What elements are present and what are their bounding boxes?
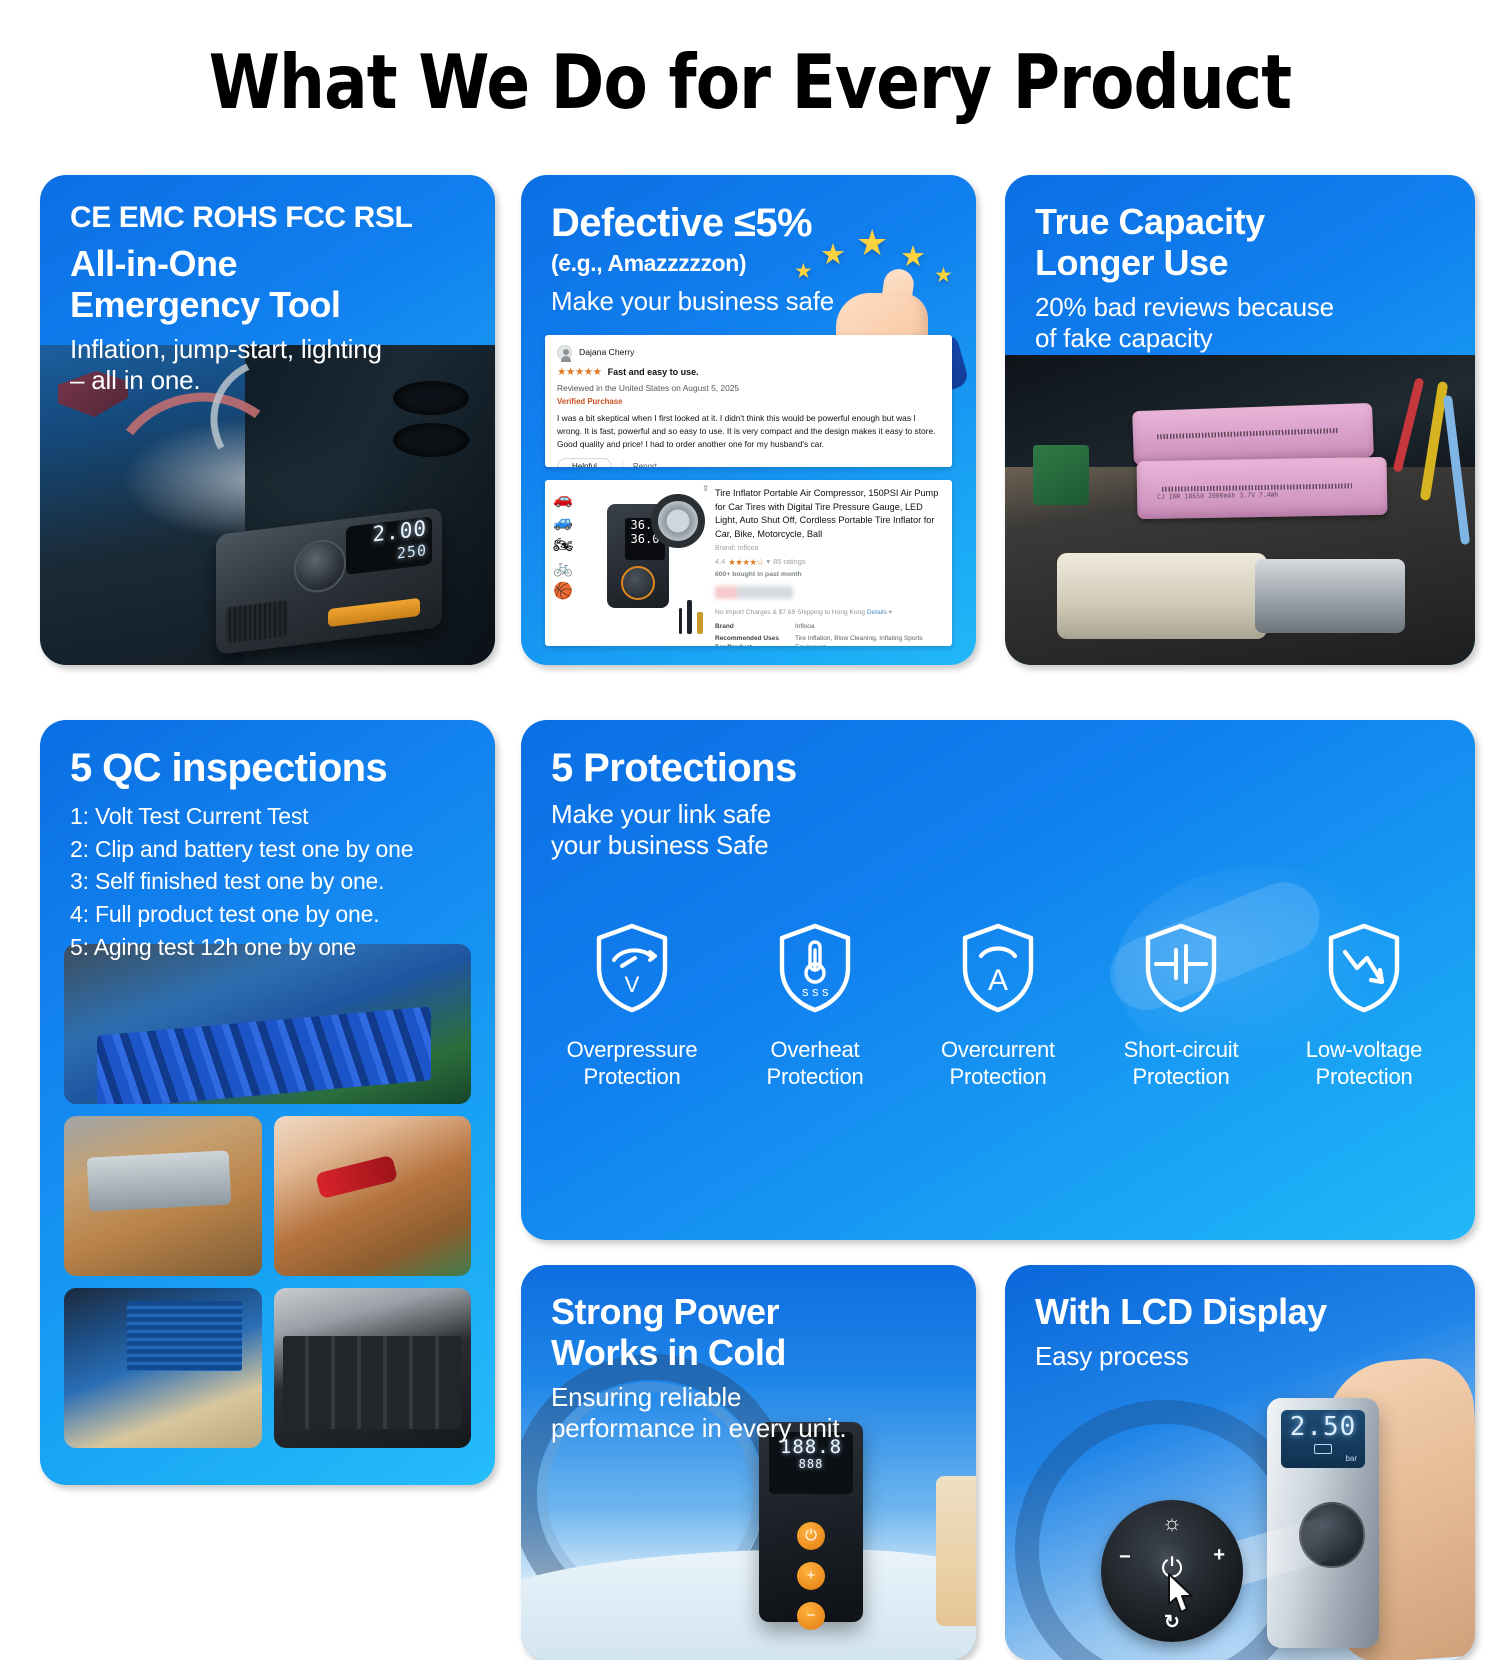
svg-text:s: s: [802, 984, 809, 999]
motorcycle-icon: 🏍: [553, 538, 573, 554]
table-row: Recommended Uses For Product Tire Inflat…: [715, 635, 944, 646]
protection-label-line2: Protection: [547, 1064, 717, 1091]
reviewer-name: Dajana Cherry: [579, 346, 634, 358]
card6-heading-line1: Strong Power: [551, 1291, 946, 1332]
share-icon[interactable]: ⇪: [702, 484, 709, 493]
accessories-group: [679, 600, 703, 634]
cursor-pointer-icon: [1163, 1570, 1203, 1618]
card3-sub-line2: of fake capacity: [1035, 323, 1445, 354]
card-qc-inspections: 5 QC inspections 1: Volt Test Current Te…: [40, 720, 495, 1485]
protection-item-low-voltage: Low-voltage Protection: [1279, 920, 1449, 1091]
report-link[interactable]: Report: [622, 461, 657, 467]
category-icon-list: 🚗 🚙 🏍 🚲 🏀: [553, 492, 573, 600]
card-true-capacity: CJ INR 18650 2000mAh 3.7V 7.4Wh True Cap…: [1005, 175, 1475, 665]
pcb-board: [1033, 445, 1089, 505]
card1-heading-line2: Emergency Tool: [70, 284, 465, 325]
pump-housing: [1057, 553, 1267, 639]
svg-text:A: A: [988, 964, 1008, 997]
list-item: 1: Volt Test Current Test: [70, 800, 465, 833]
low-voltage-shield-icon: [1321, 920, 1407, 1016]
card-defective-rate: Defective ≤5% (e.g., Amazzzzzon) Make yo…: [521, 175, 976, 665]
listing-image: 🚗 🚙 🏍 🚲 🏀 36.0 36.0: [545, 480, 713, 646]
attr-key: Recommended Uses For Product: [715, 635, 789, 646]
basketball-icon: 🏀: [553, 584, 573, 600]
protection-label-line2: Protection: [1096, 1064, 1266, 1091]
card-five-protections: 5 Protections Make your link safe your b…: [521, 720, 1475, 1240]
card2-heading: Defective ≤5%: [551, 201, 946, 245]
reviewer-avatar: [557, 345, 572, 360]
qc-photo-assembly-jig: [64, 1116, 262, 1276]
device-lcd-screen: 2.00 250: [346, 516, 432, 575]
protection-label-line2: Protection: [913, 1064, 1083, 1091]
table-row: Brand Inflooa: [715, 623, 944, 632]
card3-sub-line1: 20% bad reviews because: [1035, 292, 1445, 323]
review-meta: Reviewed in the United States on August …: [557, 382, 940, 394]
battery-internals-photo: CJ INR 18650 2000mAh 3.7V 7.4Wh: [1005, 355, 1475, 665]
card7-sub: Easy process: [1035, 1341, 1445, 1372]
amazon-review-screenshot: Dajana Cherry ★★★★★ Fast and easy to use…: [545, 335, 952, 467]
minus-button[interactable]: −: [1119, 1546, 1131, 1569]
rating-stars: ★★★★☆: [728, 556, 763, 568]
listing-brand: Brand: Inflooa: [715, 544, 944, 554]
card1-sub-line1: Inflation, jump-start, lighting: [70, 334, 465, 365]
qc-photo-clip-battery-test: [274, 1116, 472, 1276]
qc-photo-grid: [64, 944, 471, 1459]
protection-label-line1: Short-circuit: [1096, 1037, 1266, 1064]
cold-display-bottom: 888: [769, 1457, 853, 1471]
card5-sub-line2: your business Safe: [551, 830, 1445, 861]
device-knob: [294, 537, 346, 595]
card6-sub-line2: performance in every unit.: [551, 1413, 946, 1444]
certification-kicker: CE EMC ROHS FCC RSL: [70, 201, 465, 235]
qc-item-list: 1: Volt Test Current Test 2: Clip and ba…: [70, 800, 465, 963]
card2-sub: Make your business safe: [551, 286, 946, 317]
card4-heading: 5 QC inspections: [70, 746, 465, 790]
attr-value: Inflooa: [795, 623, 815, 632]
feature-card-grid: 2.00 250 CE EMC ROHS FCC RSL All-in-One …: [40, 175, 1475, 1485]
amazon-listing-screenshot: 🚗 🚙 🏍 🚲 🏀 36.0 36.0: [545, 480, 952, 646]
card-all-in-one-emergency-tool: 2.00 250 CE EMC ROHS FCC RSL All-in-One …: [40, 175, 495, 665]
page-title: What We Do for Every Product: [105, 0, 1395, 126]
qc-photo-volt-test-bench: [64, 944, 471, 1104]
rating-count[interactable]: 85 ratings: [773, 557, 805, 568]
card6-sub-line1: Ensuring reliable: [551, 1382, 946, 1413]
lcd-value: 2.50: [1281, 1410, 1365, 1444]
shipping-details-link[interactable]: Details: [867, 609, 887, 616]
snow-ground: [521, 1549, 976, 1660]
overcurrent-shield-icon: A: [955, 920, 1041, 1016]
attr-key: Brand: [715, 623, 789, 632]
svg-text:s: s: [812, 984, 819, 999]
card5-sub-line1: Make your link safe: [551, 799, 1445, 830]
helpful-button[interactable]: Helpful: [557, 458, 612, 467]
svg-text:V: V: [625, 972, 640, 997]
card7-heading: With LCD Display: [1035, 1291, 1445, 1332]
battery-icon: [1314, 1444, 1332, 1454]
protection-label-line1: Overcurrent: [913, 1037, 1083, 1064]
lcd-screen: 2.50 bar: [1281, 1410, 1365, 1468]
lcd-unit: bar: [1345, 1454, 1357, 1463]
chevron-down-icon[interactable]: ▾: [766, 557, 770, 568]
attr-value: Tire Inflation, Blow Cleaning, Inflating…: [795, 635, 944, 646]
cold-plus-button[interactable]: +: [797, 1562, 825, 1590]
protection-item-overcurrent: A Overcurrent Protection: [913, 920, 1083, 1091]
verified-purchase-badge: Verified Purchase: [557, 396, 940, 407]
cold-weather-device: 188.8 888 ⏻ + −: [759, 1422, 863, 1622]
card1-heading-line1: All-in-One: [70, 243, 465, 284]
overheat-shield-icon: s s s: [772, 920, 858, 1016]
device-air-outlet: [226, 600, 288, 644]
listing-title[interactable]: Tire Inflator Portable Air Compressor, 1…: [715, 487, 944, 541]
review-title: Fast and easy to use.: [608, 366, 699, 379]
svg-text:s: s: [822, 984, 829, 999]
battery-cell-top: [1132, 403, 1374, 465]
protection-item-short-circuit: Short-circuit Protection: [1096, 920, 1266, 1091]
protection-icon-row: V Overpressure Protection s s s: [547, 920, 1449, 1091]
device-handle: [328, 598, 420, 627]
car-icon: 🚗: [553, 492, 573, 508]
protection-label-line1: Low-voltage: [1279, 1037, 1449, 1064]
cold-power-button[interactable]: ⏻: [797, 1522, 825, 1550]
listing-rating[interactable]: 4.4 ★★★★☆ ▾ 85 ratings: [715, 556, 944, 568]
protection-item-overheat: s s s Overheat Protection: [730, 920, 900, 1091]
card6-heading-line2: Works in Cold: [551, 1332, 946, 1373]
bought-count: 600+ bought in past month: [715, 570, 944, 580]
plus-button[interactable]: +: [1213, 1544, 1225, 1567]
shipping-text: No Import Charges & $7.69 Shipping to Ho…: [715, 609, 865, 616]
card-strong-power-cold: 188.8 888 ⏻ + − Strong Power Works in Co…: [521, 1265, 976, 1660]
card2-kicker: (e.g., Amazzzzzon): [551, 251, 946, 277]
list-item: 5: Aging test 12h one by one: [70, 931, 465, 964]
card1-sub-line2: – all in one.: [70, 365, 465, 396]
protection-label-line1: Overpressure: [547, 1037, 717, 1064]
card3-heading-line2: Longer Use: [1035, 242, 1445, 283]
pump-motor: [1255, 559, 1405, 633]
light-bulb-icon[interactable]: ☼: [1162, 1510, 1182, 1536]
suv-icon: 🚙: [553, 515, 573, 531]
battery-cell-label: CJ INR 18650 2000mAh 3.7V 7.4Wh: [1157, 491, 1278, 501]
bicycle-icon: 🚲: [553, 561, 573, 577]
led-light-panel: [936, 1476, 976, 1626]
listing-attribute-table: Brand Inflooa Recommended Uses For Produ…: [715, 623, 944, 646]
protection-item-overpressure: V Overpressure Protection: [547, 920, 717, 1091]
review-body: I was a bit skeptical when I first looke…: [557, 412, 940, 451]
protection-label-line1: Overheat: [730, 1037, 900, 1064]
card3-heading-line1: True Capacity: [1035, 201, 1445, 242]
qc-photo-aging-rack: [274, 1288, 472, 1448]
qc-photo-data-logging: [64, 1288, 262, 1448]
cold-minus-button[interactable]: −: [797, 1602, 825, 1630]
protection-label-line2: Protection: [1279, 1064, 1449, 1091]
shipping-note: No Import Charges & $7.69 Shipping to Ho…: [715, 608, 944, 617]
short-circuit-shield-icon: [1138, 920, 1224, 1016]
card5-heading: 5 Protections: [551, 746, 1445, 790]
rating-value: 4.4: [715, 557, 725, 568]
list-item: 2: Clip and battery test one by one: [70, 833, 465, 866]
battery-cell-bottom: CJ INR 18650 2000mAh 3.7V 7.4Wh: [1137, 457, 1388, 519]
protection-label-line2: Protection: [730, 1064, 900, 1091]
list-item: 3: Self finished test one by one.: [70, 865, 465, 898]
list-item: 4: Full product test one by one.: [70, 898, 465, 931]
tire-photo: [651, 494, 705, 548]
overpressure-shield-icon: V: [589, 920, 675, 1016]
card-lcd-display: 2.50 bar ⏻ + − ☼ ↻ With LCD Display Easy…: [1005, 1265, 1475, 1660]
review-stars: ★★★★★: [557, 365, 602, 380]
price-blurred: [715, 586, 793, 599]
